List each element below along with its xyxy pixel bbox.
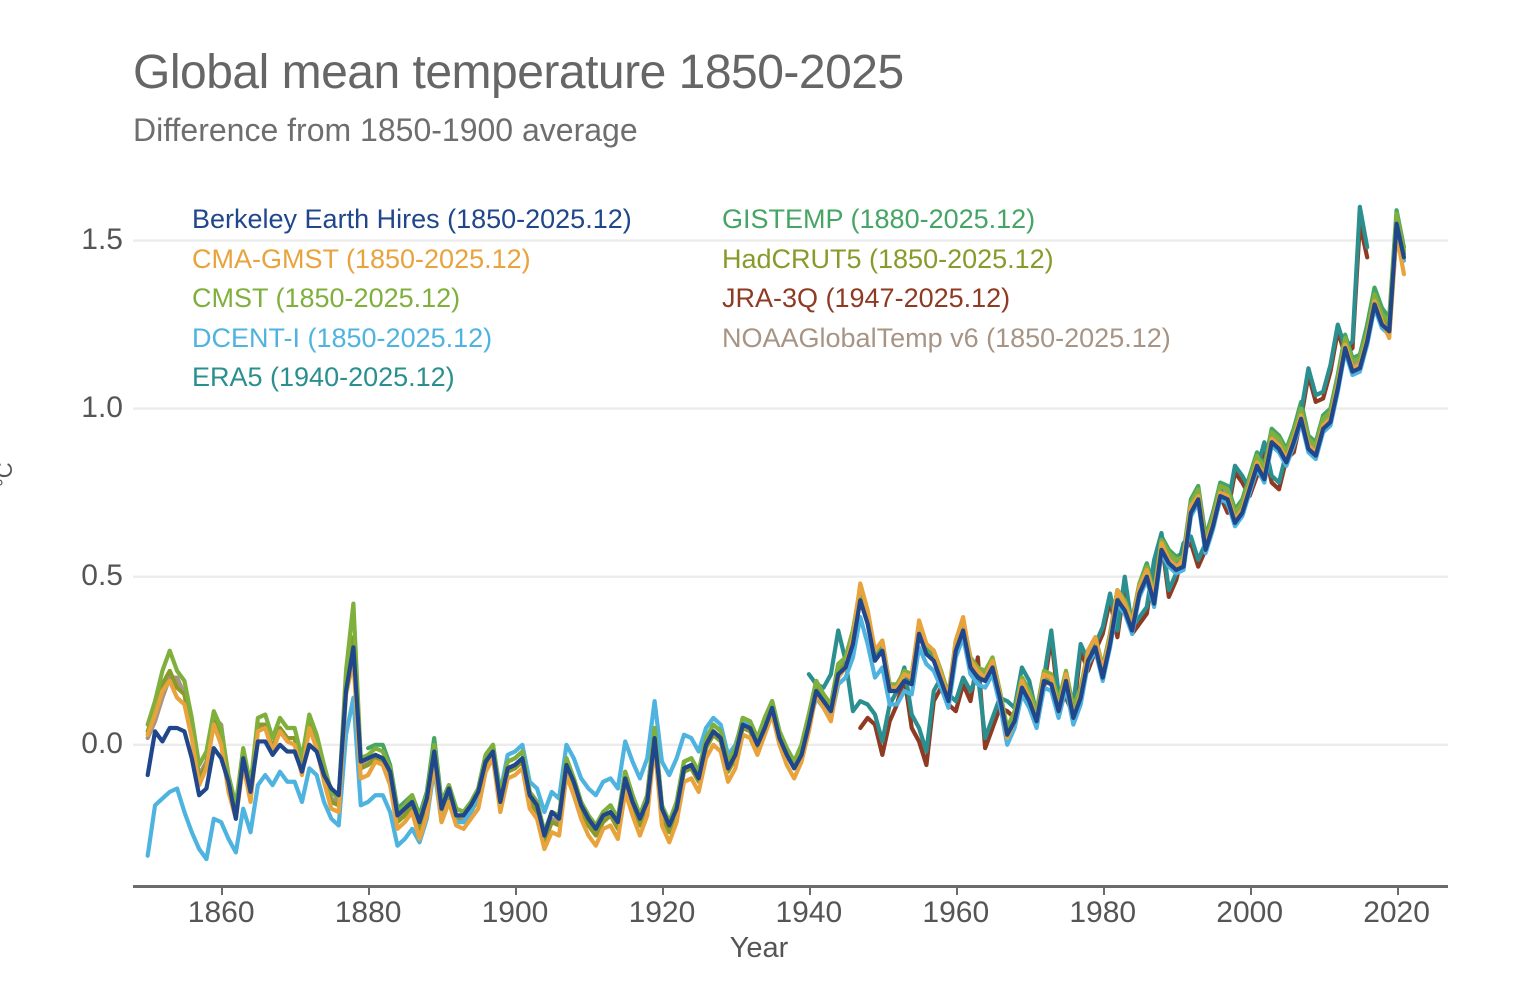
x-tick-label: 1960 (896, 898, 1016, 928)
legend-item-hadcrut5[interactable]: HadCRUT5 (1850-2025.12) (722, 240, 1171, 280)
chart-page: Global mean temperature 1850-2025 Differ… (0, 0, 1518, 1008)
x-tick-label: 2000 (1190, 898, 1310, 928)
x-axis-label: Year (0, 932, 1518, 965)
y-axis-label: °C (0, 462, 18, 487)
x-tick-label: 1860 (161, 898, 281, 928)
legend-item-gistemp[interactable]: GISTEMP (1880-2025.12) (722, 200, 1171, 240)
legend-item-jra-3q[interactable]: JRA-3Q (1947-2025.12) (722, 279, 1171, 319)
page-subtitle: Difference from 1850-1900 average (133, 112, 638, 149)
legend-column-right: GISTEMP (1880-2025.12)HadCRUT5 (1850-202… (722, 200, 1171, 358)
x-tick-label: 2020 (1337, 898, 1457, 928)
page-title: Global mean temperature 1850-2025 (133, 48, 904, 98)
legend-item-cma-gmst[interactable]: CMA-GMST (1850-2025.12) (192, 240, 632, 280)
x-tick-label: 1900 (455, 898, 575, 928)
y-tick-label: 1.5 (37, 225, 123, 255)
y-tick-label: 0.5 (37, 561, 123, 591)
legend-item-era5[interactable]: ERA5 (1940-2025.12) (192, 358, 632, 398)
y-tick-label: 1.0 (37, 393, 123, 423)
legend-column-left: Berkeley Earth Hires (1850-2025.12)CMA-G… (192, 200, 632, 398)
legend-item-noaaglobaltemp[interactable]: NOAAGlobalTemp v6 (1850-2025.12) (722, 319, 1171, 359)
chart-legend: Berkeley Earth Hires (1850-2025.12)CMA-G… (192, 200, 1222, 400)
legend-item-dcent-i[interactable]: DCENT-I (1850-2025.12) (192, 319, 632, 359)
legend-item-berkeley[interactable]: Berkeley Earth Hires (1850-2025.12) (192, 200, 632, 240)
x-tick-label: 1940 (749, 898, 869, 928)
x-tick-label: 1920 (602, 898, 722, 928)
y-tick-label: 0.0 (37, 729, 123, 759)
x-tick-label: 1980 (1043, 898, 1163, 928)
x-axis-line (133, 885, 1448, 888)
legend-item-cmst[interactable]: CMST (1850-2025.12) (192, 279, 632, 319)
x-tick-label: 1880 (308, 898, 428, 928)
